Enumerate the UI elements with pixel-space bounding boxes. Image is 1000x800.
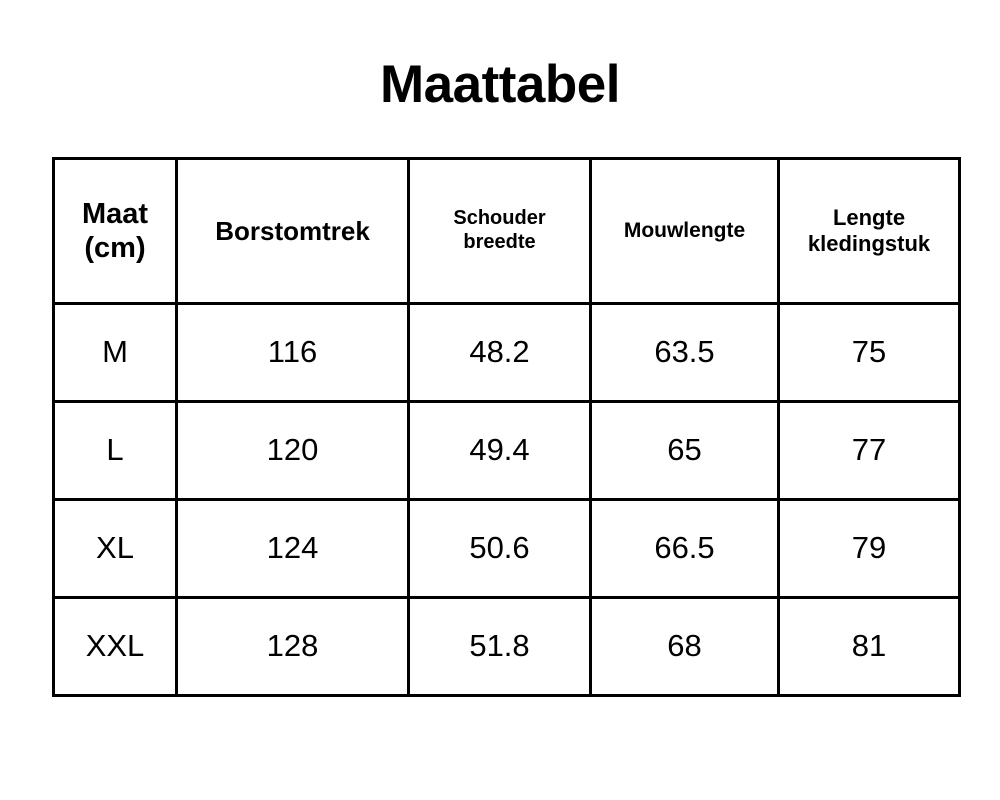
cell-chest: 116: [177, 304, 409, 402]
table-header-row: Maat (cm) Borstomtrek Schouder breedte M…: [54, 159, 960, 304]
cell-length: 81: [779, 598, 960, 696]
cell-length: 79: [779, 500, 960, 598]
column-header-length: Lengte kledingstuk: [779, 159, 960, 304]
column-header-sleeve: Mouwlengte: [591, 159, 779, 304]
cell-size: L: [54, 402, 177, 500]
table-row: L 120 49.4 65 77: [54, 402, 960, 500]
cell-shoulder: 50.6: [409, 500, 591, 598]
cell-shoulder: 51.8: [409, 598, 591, 696]
cell-length: 77: [779, 402, 960, 500]
column-header-length-line2: kledingstuk: [780, 231, 958, 257]
column-header-shoulder: Schouder breedte: [409, 159, 591, 304]
column-header-sleeve-line1: Mouwlengte: [592, 219, 777, 244]
column-header-chest-line1: Borstomtrek: [178, 216, 407, 247]
cell-sleeve: 63.5: [591, 304, 779, 402]
cell-length: 75: [779, 304, 960, 402]
column-header-size-line1: Maat: [55, 197, 175, 231]
cell-size: XL: [54, 500, 177, 598]
column-header-size: Maat (cm): [54, 159, 177, 304]
size-table: Maat (cm) Borstomtrek Schouder breedte M…: [52, 157, 961, 697]
column-header-size-line2: (cm): [55, 231, 175, 265]
table-row: M 116 48.2 63.5 75: [54, 304, 960, 402]
cell-chest: 120: [177, 402, 409, 500]
size-chart-page: Maattabel Maat (cm) Borstomtrek Schouder…: [0, 0, 1000, 800]
cell-chest: 124: [177, 500, 409, 598]
column-header-length-line1: Lengte: [780, 205, 958, 231]
column-header-chest: Borstomtrek: [177, 159, 409, 304]
cell-sleeve: 66.5: [591, 500, 779, 598]
cell-sleeve: 68: [591, 598, 779, 696]
column-header-shoulder-line2: breedte: [410, 231, 589, 255]
cell-sleeve: 65: [591, 402, 779, 500]
page-title: Maattabel: [0, 56, 1000, 114]
table-row: XXL 128 51.8 68 81: [54, 598, 960, 696]
table-row: XL 124 50.6 66.5 79: [54, 500, 960, 598]
cell-size: M: [54, 304, 177, 402]
cell-shoulder: 49.4: [409, 402, 591, 500]
column-header-shoulder-line1: Schouder: [410, 207, 589, 231]
cell-size: XXL: [54, 598, 177, 696]
cell-shoulder: 48.2: [409, 304, 591, 402]
cell-chest: 128: [177, 598, 409, 696]
